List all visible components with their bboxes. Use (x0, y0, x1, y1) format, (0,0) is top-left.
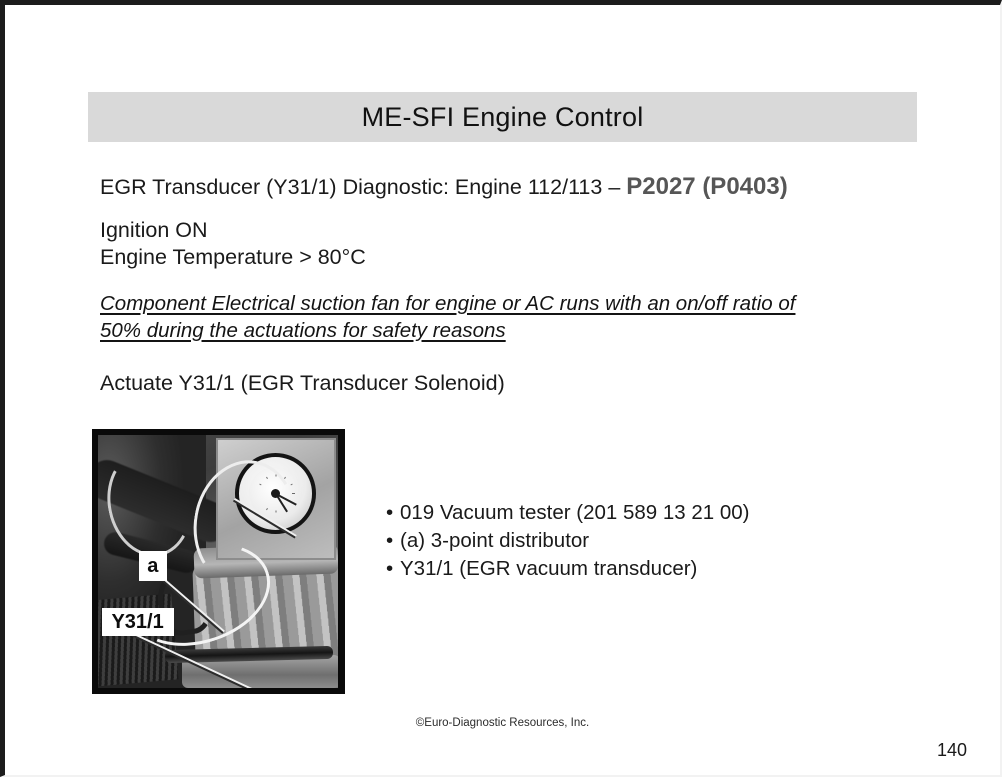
bullet-marker-icon: • (386, 499, 400, 527)
list-item: •Y31/1 (EGR vacuum transducer) (386, 555, 750, 583)
list-item: •(a) 3-point distributor (386, 527, 750, 555)
component-list: •019 Vacuum tester (201 589 13 21 00) •(… (386, 499, 750, 583)
slide-title-band: ME-SFI Engine Control (88, 92, 917, 142)
safety-note: Component Electrical suction fan for eng… (100, 290, 890, 344)
list-item-label: (a) 3-point distributor (400, 529, 589, 552)
slide-canvas: ME-SFI Engine Control EGR Transducer (Y3… (0, 0, 1002, 777)
list-item-label: 019 Vacuum tester (201 589 13 21 00) (400, 501, 750, 524)
bullet-marker-icon: • (386, 555, 400, 583)
engine-bay-photo-inner: a Y31/1 (98, 435, 338, 688)
subtitle-prefix: EGR Transducer (Y31/1) Diagnostic: Engin… (100, 175, 626, 199)
page-title: ME-SFI Engine Control (362, 102, 644, 133)
page-number: 140 (937, 740, 967, 761)
safety-note-line-1: Component Electrical suction fan for eng… (100, 292, 795, 315)
bullet-marker-icon: • (386, 527, 400, 555)
safety-note-line-2: 50% during the actuations for safety rea… (100, 319, 506, 342)
diagnostic-code: P2027 (P0403) (626, 173, 787, 200)
subtitle-line: EGR Transducer (Y31/1) Diagnostic: Engin… (100, 173, 788, 201)
list-item-label: Y31/1 (EGR vacuum transducer) (400, 557, 697, 580)
list-item: •019 Vacuum tester (201 589 13 21 00) (386, 499, 750, 527)
actuate-instruction: Actuate Y31/1 (EGR Transducer Solenoid) (100, 371, 505, 396)
callout-label-y311: Y31/1 (102, 608, 174, 636)
condition-line-ignition: Ignition ON (100, 218, 208, 243)
engine-bay-photo: a Y31/1 (92, 429, 345, 694)
copyright-notice: ©Euro-Diagnostic Resources, Inc. (5, 717, 1000, 729)
condition-line-temperature: Engine Temperature > 80°C (100, 245, 366, 270)
callout-label-a: a (139, 551, 167, 581)
